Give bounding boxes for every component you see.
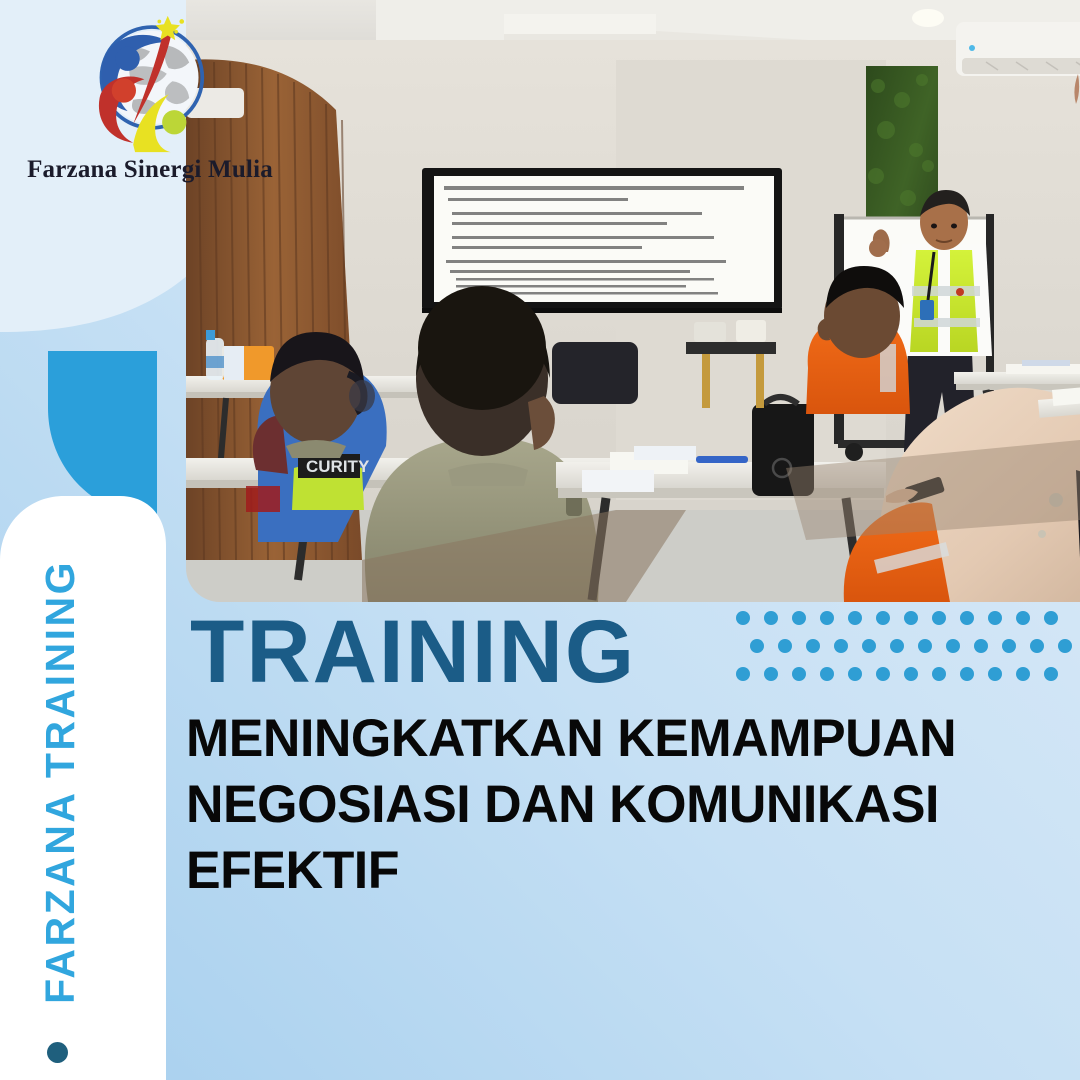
dot-pattern-decoration (735, 608, 1075, 686)
page-title: TRAINING (190, 604, 636, 698)
page-subtitle: MENINGKATKAN KEMAMPUAN NEGOSIASI DAN KOM… (186, 706, 1048, 904)
vertical-brand-text: FARZANA TRAINING (37, 560, 84, 1004)
training-photo: CURITY (186, 0, 1080, 602)
svg-text:CURITY: CURITY (306, 457, 370, 476)
vertical-brand-label: FARZANA TRAINING (0, 560, 120, 1030)
accent-dot (47, 1042, 68, 1063)
brand-logo-panel: Farzana Sinergi Mulia (0, 0, 300, 300)
company-name: Farzana Sinergi Mulia (27, 156, 273, 184)
classroom-scene: CURITY (186, 0, 1080, 602)
poster-canvas: Farzana Sinergi Mulia (0, 0, 1080, 1080)
globe-people-star-logo (75, 14, 225, 154)
